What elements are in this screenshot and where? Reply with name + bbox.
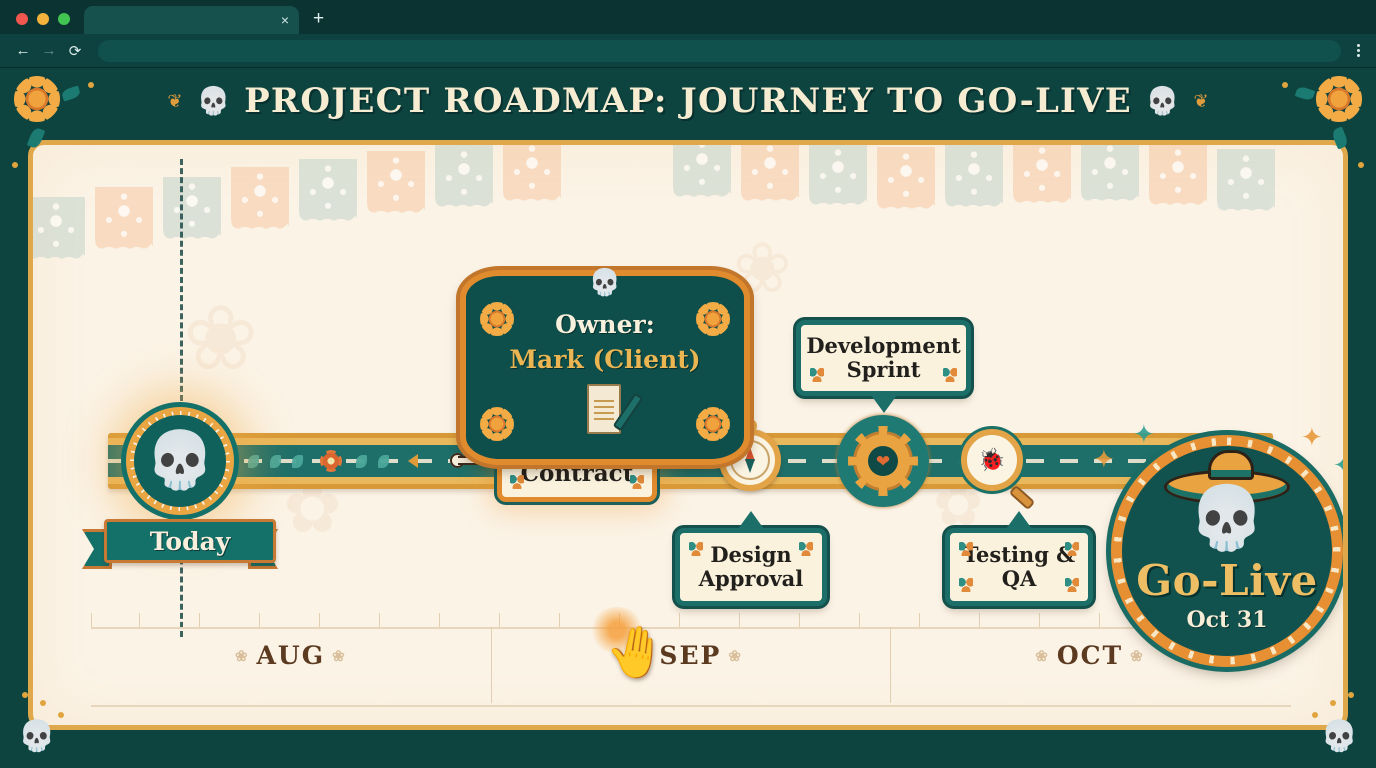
- roadmap-page: ❦ 💀 PROJECT ROADMAP: JOURNEY TO GO-LIVE …: [0, 68, 1376, 768]
- reload-icon[interactable]: ⟳: [62, 38, 88, 64]
- leaf-icon: [292, 455, 303, 468]
- petal-ornament: [1065, 578, 1079, 592]
- sombrero-crown: [1208, 450, 1254, 480]
- close-window-button[interactable]: [16, 13, 28, 25]
- today-medallion: 💀: [126, 407, 234, 515]
- minimize-window-button[interactable]: [37, 13, 49, 25]
- bug-magnifier-icon: 🐞: [961, 429, 1033, 501]
- today-reference-line: [180, 159, 183, 637]
- petal-ornament: [943, 368, 957, 382]
- card-pointer-up: [738, 511, 764, 529]
- heart-icon: ❤: [876, 453, 890, 470]
- signed-contract-icon: [579, 382, 631, 438]
- marigold-ornament: [696, 407, 730, 441]
- browser-toolbar: ← → ⟳: [0, 34, 1376, 68]
- firework-icon: ✦: [1093, 445, 1115, 475]
- owner-value: Mark (Client): [509, 345, 700, 374]
- milestone-label: Development Sprint: [801, 334, 966, 381]
- milestone-card-development-sprint[interactable]: Development Sprint: [796, 320, 971, 396]
- milestone-card-design-approval[interactable]: Design Approval: [675, 528, 827, 606]
- magnifier-lens: 🐞: [961, 429, 1023, 491]
- owner-label: Owner:: [555, 310, 655, 339]
- month-axis: ❀AUG❀ ❀SEP❀ ❀OCT❀: [91, 611, 1291, 707]
- axis-bottom-line: [91, 705, 1291, 707]
- flourish-right-icon: ❦: [1193, 91, 1208, 112]
- golive-badge[interactable]: 💀 Go-Live Oct 31: [1111, 435, 1343, 667]
- new-tab-icon[interactable]: +: [299, 9, 336, 34]
- leaf-icon: [248, 455, 259, 468]
- marigold-ornament: [480, 302, 514, 336]
- petal-ornament: [510, 475, 524, 489]
- golive-title: Go-Live: [1136, 556, 1317, 605]
- flourish-icon: ❀: [721, 647, 750, 665]
- browser-tab[interactable]: ×: [84, 6, 299, 34]
- petal-ornament: [1065, 542, 1079, 556]
- card-pointer-up: [1006, 511, 1032, 529]
- skull-icon: 💀: [18, 719, 55, 754]
- magnifier-handle: [1009, 485, 1036, 511]
- browser-window: × + ← → ⟳ ❦ 💀 PROJECT ROADMAP: JOURNEY T…: [0, 0, 1376, 768]
- skull-right-icon: 💀: [1146, 85, 1180, 117]
- firework-icon: ✦: [1333, 451, 1348, 481]
- gear-heart-icon: ❤: [837, 415, 929, 507]
- firework-icon: ✦: [1301, 423, 1323, 453]
- marigold-ornament: [480, 407, 514, 441]
- leaf-icon: [378, 455, 389, 468]
- axis-top-line: [91, 627, 1291, 629]
- flourish-left-icon: ❦: [167, 91, 182, 112]
- browser-menu-icon[interactable]: [1351, 44, 1366, 57]
- sugar-skull-icon: 💀: [1188, 488, 1265, 550]
- milestone-icon-development-sprint[interactable]: ❤: [837, 415, 929, 507]
- window-traffic-lights: [0, 13, 84, 34]
- leaf-icon: [356, 455, 367, 468]
- page-title: PROJECT ROADMAP: JOURNEY TO GO-LIVE: [244, 81, 1132, 121]
- today-label: Today: [150, 527, 231, 556]
- flower-icon: [320, 450, 342, 472]
- flourish-icon: ❀: [1123, 647, 1152, 665]
- page-header: ❦ 💀 PROJECT ROADMAP: JOURNEY TO GO-LIVE …: [0, 68, 1376, 134]
- skull-icon: 💀: [1321, 719, 1358, 754]
- milestone-card-testing-qa[interactable]: Testing & QA: [945, 528, 1093, 606]
- petal-ornament: [799, 542, 813, 556]
- arrow-icon: [408, 454, 418, 468]
- marigold-ornament: [696, 302, 730, 336]
- roadmap-canvas: ❀ ✿ ❀ ✿ 💀: [28, 140, 1348, 730]
- petal-ornament: [810, 368, 824, 382]
- back-icon[interactable]: ←: [10, 38, 36, 64]
- close-tab-icon[interactable]: ×: [281, 13, 289, 27]
- firework-icon: ✦: [1133, 420, 1155, 450]
- compass-needle-south: [745, 459, 755, 473]
- gear-core: ❤: [868, 446, 898, 476]
- gear-shape: ❤: [856, 434, 910, 488]
- flourish-icon: ❀: [325, 647, 354, 665]
- golive-date: Oct 31: [1187, 607, 1268, 633]
- owner-plaque[interactable]: 💀 Owner: Mark (Client): [460, 270, 750, 465]
- milestone-icon-testing-qa[interactable]: 🐞: [961, 429, 1033, 501]
- forward-icon[interactable]: →: [36, 38, 62, 64]
- background-ornament: ❀: [183, 295, 258, 385]
- flourish-icon: ❀: [1028, 647, 1057, 665]
- month-name: SEP: [659, 641, 721, 670]
- papel-picado-banner: [33, 140, 1343, 249]
- skeleton-hand-cursor: 🤚: [602, 623, 671, 681]
- address-bar[interactable]: [98, 40, 1341, 62]
- month-label-sep: ❀SEP❀: [491, 641, 891, 670]
- month-name: OCT: [1057, 641, 1123, 670]
- maximize-window-button[interactable]: [58, 13, 70, 25]
- petal-ornament: [689, 542, 703, 556]
- month-name: AUG: [257, 641, 326, 670]
- leaf-icon: [270, 455, 281, 468]
- flourish-icon: ❀: [228, 647, 257, 665]
- skull-bottom-left-ornament: 💀: [0, 658, 110, 768]
- sombrero-skull-icon: 💀: [1172, 456, 1282, 552]
- skull-icon: 💀: [589, 270, 621, 296]
- sugar-skull-icon: 💀: [145, 433, 215, 489]
- skull-bottom-right-ornament: 💀: [1266, 658, 1376, 768]
- petal-ornament: [630, 475, 644, 489]
- month-label-aug: ❀AUG❀: [91, 641, 491, 670]
- petal-ornament: [959, 542, 973, 556]
- today-marker[interactable]: 💀 Today: [126, 407, 234, 515]
- petal-ornament: [959, 578, 973, 592]
- skull-left-icon: 💀: [197, 85, 231, 117]
- browser-tabstrip: × +: [0, 0, 1376, 34]
- card-pointer-down: [871, 395, 897, 413]
- bug-icon: 🐞: [978, 449, 1005, 471]
- today-ribbon: Today: [104, 519, 276, 563]
